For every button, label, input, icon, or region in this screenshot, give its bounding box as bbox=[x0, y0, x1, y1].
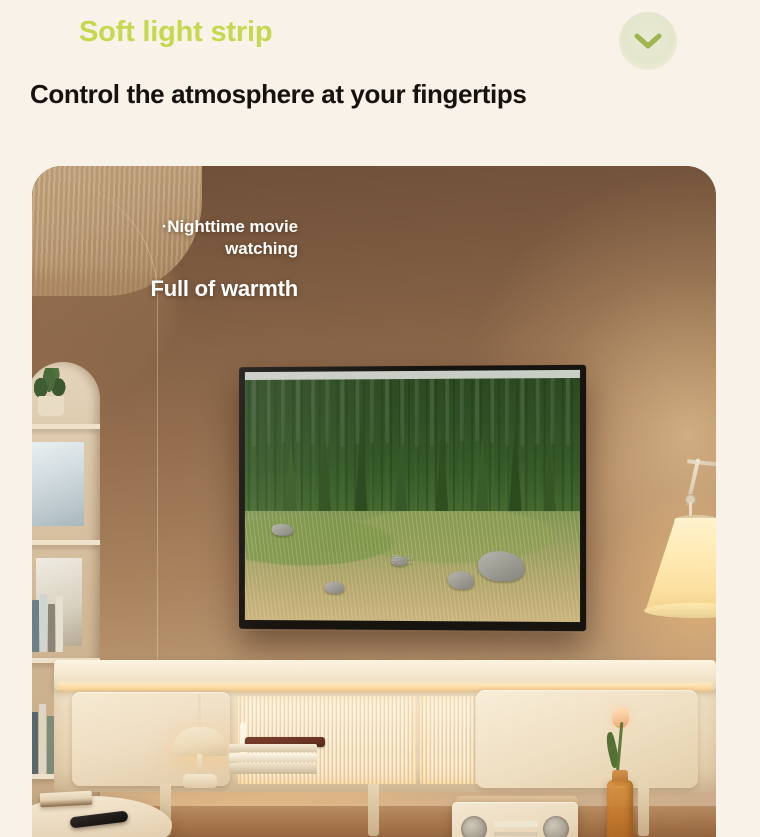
pine-tree bbox=[543, 443, 557, 522]
pine-tree bbox=[285, 439, 299, 521]
stereo-speaker-right bbox=[543, 816, 569, 837]
book-spine bbox=[56, 596, 63, 652]
lifestyle-photo: 美景 bbox=[32, 166, 716, 837]
plant-pot bbox=[38, 396, 64, 416]
boulder bbox=[448, 571, 474, 589]
book-spine bbox=[40, 594, 47, 652]
pine-tree bbox=[509, 421, 523, 522]
console-leg bbox=[638, 784, 649, 836]
boulder bbox=[271, 524, 293, 536]
magazine bbox=[32, 442, 84, 526]
book bbox=[229, 763, 317, 774]
page-eyebrow: Soft light strip bbox=[79, 16, 272, 49]
coffee-table-book bbox=[40, 791, 93, 808]
book-spine bbox=[47, 716, 54, 774]
stereo-speaker-left bbox=[461, 816, 487, 837]
book-spine bbox=[32, 600, 39, 652]
book-spine bbox=[39, 704, 46, 774]
product-detail-page: Soft light strip Control the atmosphere … bbox=[0, 0, 760, 837]
tv-watermark: 美景 bbox=[391, 551, 417, 566]
book bbox=[229, 753, 317, 762]
book bbox=[229, 744, 317, 752]
book-stack bbox=[229, 744, 317, 778]
pine-tree bbox=[394, 429, 408, 521]
book-spine bbox=[32, 712, 38, 774]
pine-tree bbox=[475, 433, 489, 521]
pine-tree bbox=[434, 417, 448, 521]
pine-tree bbox=[318, 425, 332, 521]
table-lamp-base bbox=[183, 774, 217, 788]
cabinet-door-right bbox=[476, 690, 698, 788]
table-lamp-rod bbox=[198, 694, 201, 730]
console-leg bbox=[368, 784, 379, 836]
book-spine bbox=[48, 604, 55, 652]
page-header: Soft light strip Control the atmosphere … bbox=[0, 0, 760, 150]
page-title: Control the atmosphere at your fingertip… bbox=[30, 79, 526, 110]
tv-screen: 美景 bbox=[245, 370, 580, 622]
chevron-down-button[interactable] bbox=[619, 12, 677, 70]
stereo-display bbox=[494, 832, 538, 836]
shelf-divider bbox=[32, 540, 100, 545]
stereo-cd-slot bbox=[494, 821, 538, 827]
grass-texture bbox=[245, 511, 580, 622]
shelf-divider bbox=[32, 424, 100, 429]
pine-tree bbox=[354, 411, 368, 521]
boulder bbox=[478, 551, 524, 581]
boulder bbox=[324, 581, 344, 593]
amber-glass-vase bbox=[607, 780, 633, 837]
wall-mounted-tv: 美景 bbox=[239, 365, 586, 631]
